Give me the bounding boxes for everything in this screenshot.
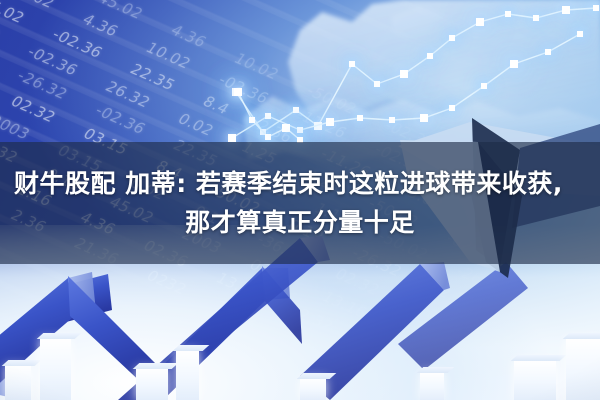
vignette-overlay xyxy=(0,0,600,400)
banner-image: -50.02-02.3621.3645.024.3610.02-50.02-02… xyxy=(0,0,600,400)
